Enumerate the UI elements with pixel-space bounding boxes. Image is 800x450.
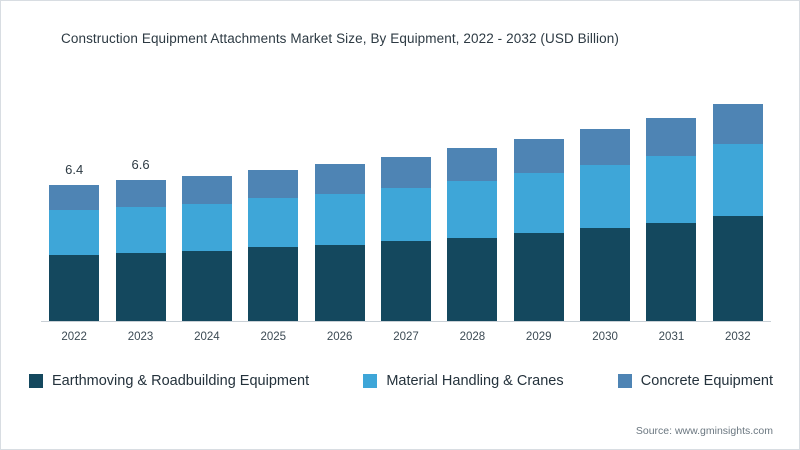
bar-segment[interactable]	[182, 204, 232, 251]
bar-segment[interactable]	[580, 129, 630, 165]
x-tick-label: 2023	[106, 331, 176, 343]
bar-value-label: 6.4	[39, 162, 109, 177]
bar-segment[interactable]	[381, 157, 431, 188]
bar-segment[interactable]	[514, 233, 564, 321]
x-tick-label: 2030	[570, 331, 640, 343]
legend-swatch-concrete	[618, 374, 632, 388]
bar-segment[interactable]	[315, 194, 365, 245]
bar-value-label: 6.6	[106, 157, 176, 172]
bar-group[interactable]	[713, 104, 763, 321]
bar-segment[interactable]	[381, 241, 431, 321]
bar-group[interactable]	[116, 180, 166, 321]
bar-segment[interactable]	[182, 176, 232, 204]
x-tick-label: 2026	[305, 331, 375, 343]
bar-segment[interactable]	[713, 104, 763, 144]
bar-segment[interactable]	[49, 255, 99, 321]
chart-card: Construction Equipment Attachments Marke…	[0, 0, 800, 450]
chart-title: Construction Equipment Attachments Marke…	[61, 31, 619, 46]
bar-segment[interactable]	[580, 165, 630, 228]
bar-group[interactable]	[315, 164, 365, 321]
bar-segment[interactable]	[182, 251, 232, 321]
x-axis-line	[41, 321, 771, 322]
legend-swatch-material-handling	[363, 374, 377, 388]
legend-label-earthmoving: Earthmoving & Roadbuilding Equipment	[52, 373, 309, 389]
legend-item-concrete[interactable]: Concrete Equipment	[618, 373, 773, 389]
bar-segment[interactable]	[580, 228, 630, 321]
legend-label-material-handling: Material Handling & Cranes	[386, 373, 563, 389]
x-tick-label: 2029	[504, 331, 574, 343]
source-note: Source: www.gminsights.com	[636, 425, 773, 437]
x-tick-label: 2024	[172, 331, 242, 343]
bar-segment[interactable]	[447, 181, 497, 237]
bar-segment[interactable]	[447, 238, 497, 321]
bar-group[interactable]	[182, 176, 232, 321]
bar-group[interactable]	[580, 129, 630, 321]
bar-group[interactable]	[646, 118, 696, 321]
bar-segment[interactable]	[49, 210, 99, 255]
bar-segment[interactable]	[713, 216, 763, 321]
bar-segment[interactable]	[646, 118, 696, 156]
bar-segment[interactable]	[646, 156, 696, 223]
chart-legend: Earthmoving & Roadbuilding Equipment Mat…	[29, 373, 773, 389]
legend-item-earthmoving[interactable]: Earthmoving & Roadbuilding Equipment	[29, 373, 309, 389]
bar-segment[interactable]	[381, 188, 431, 241]
bar-segment[interactable]	[315, 245, 365, 321]
bar-segment[interactable]	[248, 170, 298, 199]
x-tick-label: 2022	[39, 331, 109, 343]
legend-item-material-handling[interactable]: Material Handling & Cranes	[363, 373, 563, 389]
bar-segment[interactable]	[315, 164, 365, 194]
bar-group[interactable]	[248, 170, 298, 321]
bar-group[interactable]	[381, 157, 431, 321]
bar-segment[interactable]	[116, 253, 166, 321]
bar-segment[interactable]	[514, 173, 564, 233]
bar-group[interactable]	[447, 148, 497, 321]
legend-swatch-earthmoving	[29, 374, 43, 388]
bar-segment[interactable]	[49, 185, 99, 211]
bar-segment[interactable]	[116, 207, 166, 253]
bar-segment[interactable]	[248, 247, 298, 321]
x-tick-label: 2027	[371, 331, 441, 343]
bar-group[interactable]	[514, 139, 564, 321]
bar-segment[interactable]	[116, 180, 166, 207]
x-tick-label: 2031	[636, 331, 706, 343]
bar-group[interactable]	[49, 185, 99, 321]
x-tick-label: 2028	[437, 331, 507, 343]
bar-segment[interactable]	[248, 198, 298, 247]
bar-segment[interactable]	[514, 139, 564, 173]
bar-segment[interactable]	[646, 223, 696, 321]
bar-segment[interactable]	[447, 148, 497, 181]
legend-label-concrete: Concrete Equipment	[641, 373, 773, 389]
bar-segment[interactable]	[713, 144, 763, 215]
x-tick-label: 2032	[703, 331, 773, 343]
x-tick-label: 2025	[238, 331, 308, 343]
